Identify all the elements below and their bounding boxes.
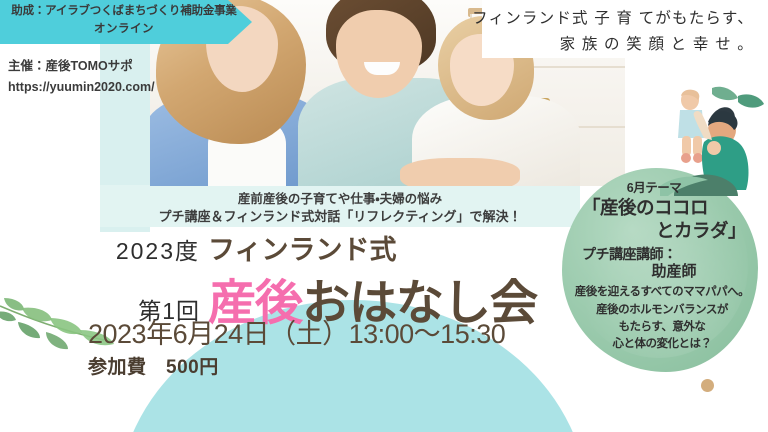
schedule-block: 2023年6月24日（土）13:00〜15:30 参加費 500円 (88, 318, 505, 379)
photo-hands (400, 158, 520, 186)
theme-desc-line-1: 産後を迎えるすべてのママパパへ。 (568, 284, 756, 301)
theme-lecturer-label: プチ講座講師： (568, 245, 756, 263)
tagline-line-2: 家 族 の 笑 顔 と 幸 せ 。 (464, 32, 754, 58)
tagline-line-1: フィンランド式 子 育 てがもたらす、 (464, 6, 754, 32)
subbanner-line-1: 産前産後の子育てや仕事・夫婦の悩み (100, 190, 580, 208)
theme-title-line-1: 「産後のココロ (568, 196, 756, 219)
subbanner-line-2: プチ講座＆フィンランド式対話「リフレクティング」で解決！ (100, 208, 580, 227)
event-date: 2023年6月24日（土）13:00〜15:30 (88, 318, 505, 350)
organizer-name: 主催：産後TOMOサポ (8, 56, 188, 77)
theme-desc-line-3: もたらす、意外な (568, 319, 756, 336)
theme-desc-line-4: 心と体の変化とは？ (568, 336, 756, 353)
poster-canvas: 助成：アイラブつくばまちづくり補助金事業 オンライン 主催：産後TOMOサポ h… (0, 0, 768, 432)
subbanner-block: 産前産後の子育てや仕事・夫婦の悩み プチ講座＆フィンランド式対話「リフレクティン… (100, 190, 580, 227)
title-year: 2023度 (72, 232, 208, 266)
organizer-block: 主催：産後TOMOサポ https://yuumin2020.com/ (8, 56, 188, 97)
grant-banner-line-2: オンライン (6, 21, 242, 39)
event-fee: 参加費 500円 (88, 352, 505, 379)
theme-desc-line-2: 産後のホルモンバランスが (568, 302, 756, 319)
theme-lecturer-name: 助産師 (568, 263, 756, 282)
title-finland: フィンランド式 (208, 228, 396, 267)
tagline-block: フィンランド式 子 育 てがもたらす、 家 族 の 笑 顔 と 幸 せ 。 (464, 6, 754, 59)
grant-banner-line-1: 助成：アイラブつくばまちづくり補助金事業 (6, 3, 242, 21)
grant-banner: 助成：アイラブつくばまちづくり補助金事業 オンライン (0, 0, 252, 44)
theme-block: 6月テーマ 「産後のココロ とカラダ」 プチ講座講師： 助産師 産後を迎えるすべ… (568, 180, 756, 353)
theme-description: 産後を迎えるすべてのママパパへ。 産後のホルモンバランスが もたらす、意外な 心… (568, 284, 756, 353)
tan-accent-dot (701, 379, 714, 392)
organizer-url[interactable]: https://yuumin2020.com/ (8, 77, 188, 98)
title-row-one: 2023度 フィンランド式 (72, 228, 537, 267)
theme-title-line-2: とカラダ」 (568, 219, 756, 242)
theme-month-label: 6月テーマ (552, 180, 756, 196)
